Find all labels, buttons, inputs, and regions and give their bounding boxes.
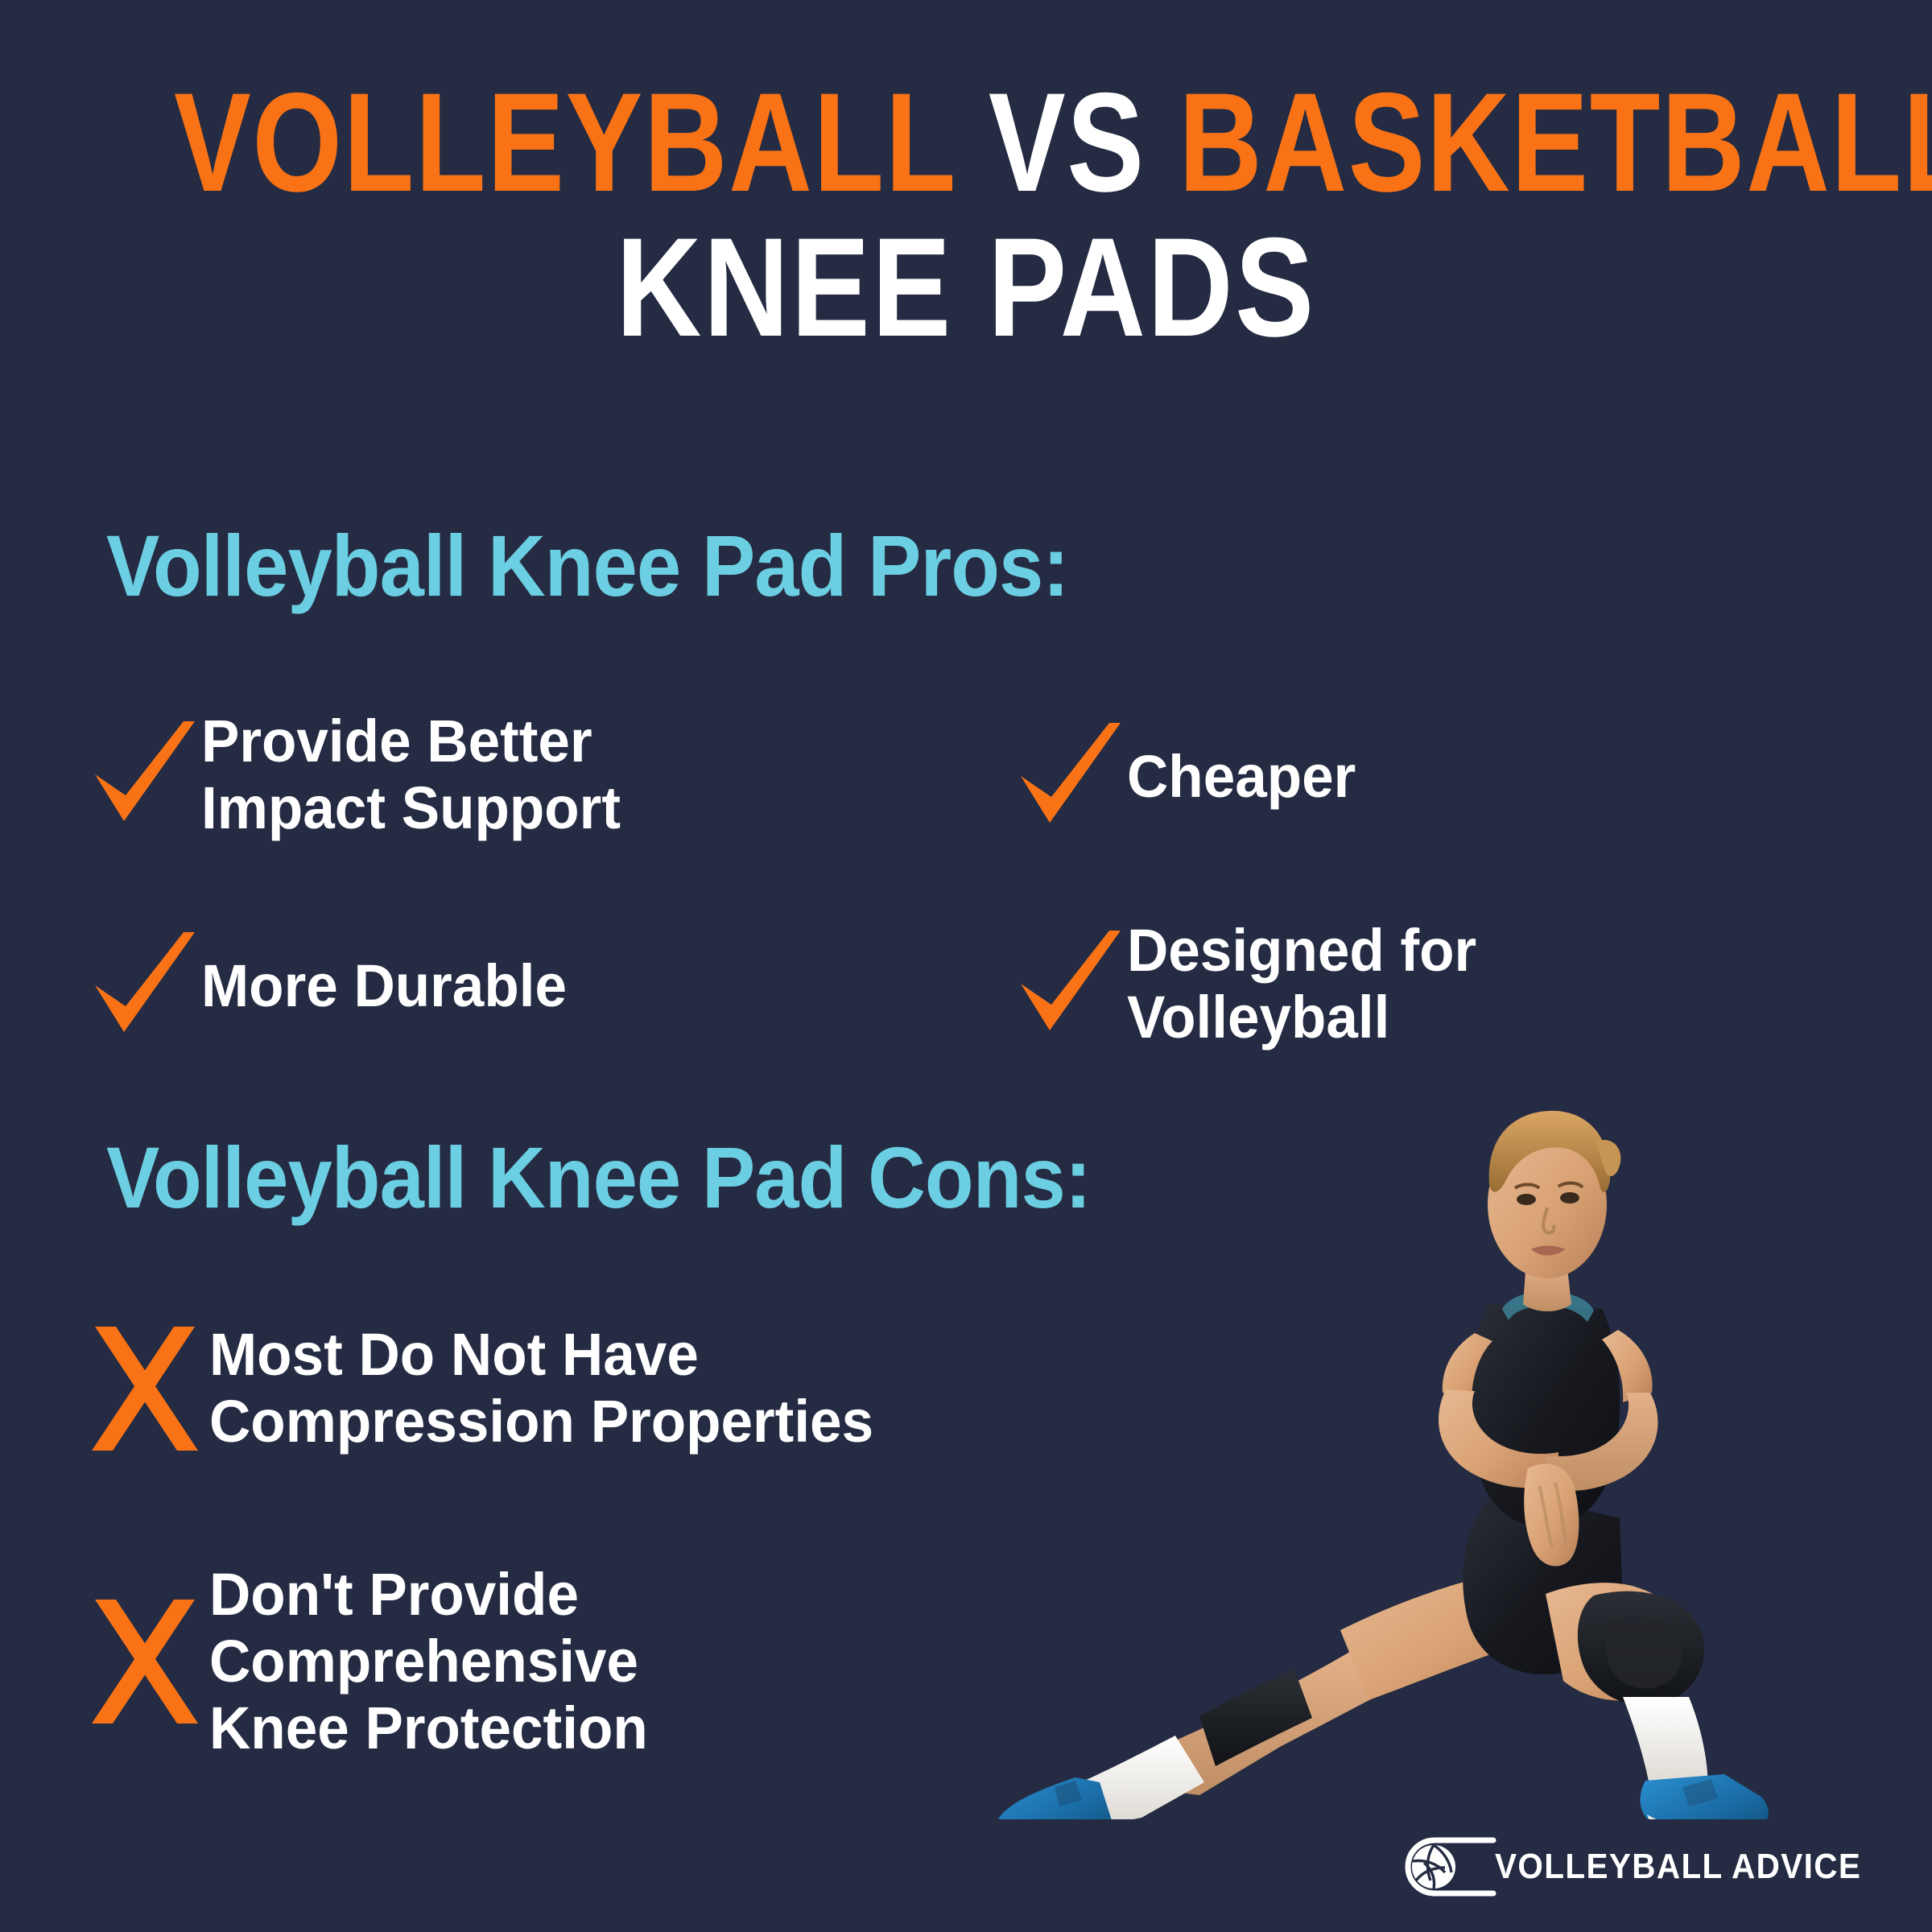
list-item-label: Provide Better Impact Support xyxy=(201,708,621,842)
list-item: Cheaper xyxy=(1014,716,1365,837)
check-icon xyxy=(1014,924,1127,1045)
list-item: Most Do Not Have Compression Properties xyxy=(80,1320,901,1457)
list-item-label: Don't Provide Comprehensive Knee Protect… xyxy=(209,1562,648,1762)
check-icon xyxy=(89,715,201,836)
volleyball-icon xyxy=(1398,1832,1501,1901)
title-word-basketball: BASKETBALL xyxy=(1179,64,1932,221)
brand-logo[interactable]: VOLLEYBALL ADVICE xyxy=(1398,1832,1893,1901)
pros-section-heading: Volleyball Knee Pad Pros: xyxy=(106,515,1068,616)
list-item: Don't Provide Comprehensive Knee Protect… xyxy=(80,1562,666,1762)
infographic-canvas: VOLLEYBALL VS BASKETBALL KNEE PADS Volle… xyxy=(0,0,1932,1932)
list-item-label: Designed for Volleyball xyxy=(1127,918,1476,1051)
list-item-label: More Durable xyxy=(201,953,567,1020)
list-item: Designed for Volleyball xyxy=(1014,918,1491,1051)
title-line-secondary: KNEE PADS xyxy=(155,217,1777,358)
list-item: More Durable xyxy=(89,926,582,1046)
title-word-volleyball: VOLLEYBALL xyxy=(174,64,955,221)
x-icon xyxy=(80,1569,209,1754)
check-icon xyxy=(1014,716,1127,837)
title-line-primary: VOLLEYBALL VS BASKETBALL xyxy=(174,74,1758,213)
title-word-vs: VS xyxy=(989,64,1146,221)
brand-logo-text: VOLLEYBALL ADVICE xyxy=(1495,1847,1861,1887)
x-icon xyxy=(80,1320,209,1457)
check-icon xyxy=(89,926,201,1046)
cons-section-heading: Volleyball Knee Pad Cons: xyxy=(106,1127,1091,1228)
title-block: VOLLEYBALL VS BASKETBALL KNEE PADS xyxy=(0,74,1932,358)
list-item-label: Cheaper xyxy=(1127,744,1356,811)
list-item: Provide Better Impact Support xyxy=(89,708,638,842)
list-item-label: Most Do Not Have Compression Properties xyxy=(209,1322,873,1455)
